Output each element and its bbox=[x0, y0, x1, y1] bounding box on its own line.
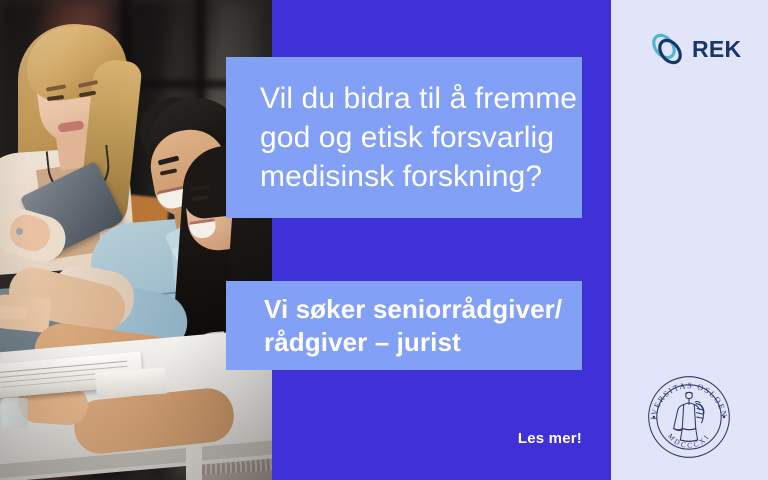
job-title-box: Vi søker seniorrådgiver/ rådgiver – juri… bbox=[226, 281, 582, 370]
rek-logo[interactable]: REK bbox=[647, 26, 743, 72]
headline-line: god og etisk forsvarlig bbox=[260, 118, 577, 157]
uio-seal: UNIVERSITAS OSLOENSIS MDCCCXI bbox=[641, 369, 737, 465]
job-advert-banner: Vil du bidra til å fremme god og etisk f… bbox=[0, 0, 768, 480]
job-title-line: Vi søker seniorrådgiver/ bbox=[264, 293, 562, 326]
headline-line: medisinsk forskning? bbox=[260, 157, 577, 196]
rek-wordmark: REK bbox=[692, 38, 741, 61]
job-title-text: Vi søker seniorrådgiver/ rådgiver – juri… bbox=[264, 293, 562, 359]
read-more-link[interactable]: Les mer! bbox=[0, 430, 582, 447]
headline-question-text: Vil du bidra til å fremme god og etisk f… bbox=[260, 79, 577, 196]
job-title-line: rådgiver – jurist bbox=[264, 326, 562, 359]
headline-line: Vil du bidra til å fremme bbox=[260, 79, 577, 118]
rek-interlocking-rings-icon bbox=[647, 28, 689, 70]
headline-question-box: Vil du bidra til å fremme god og etisk f… bbox=[226, 57, 582, 218]
